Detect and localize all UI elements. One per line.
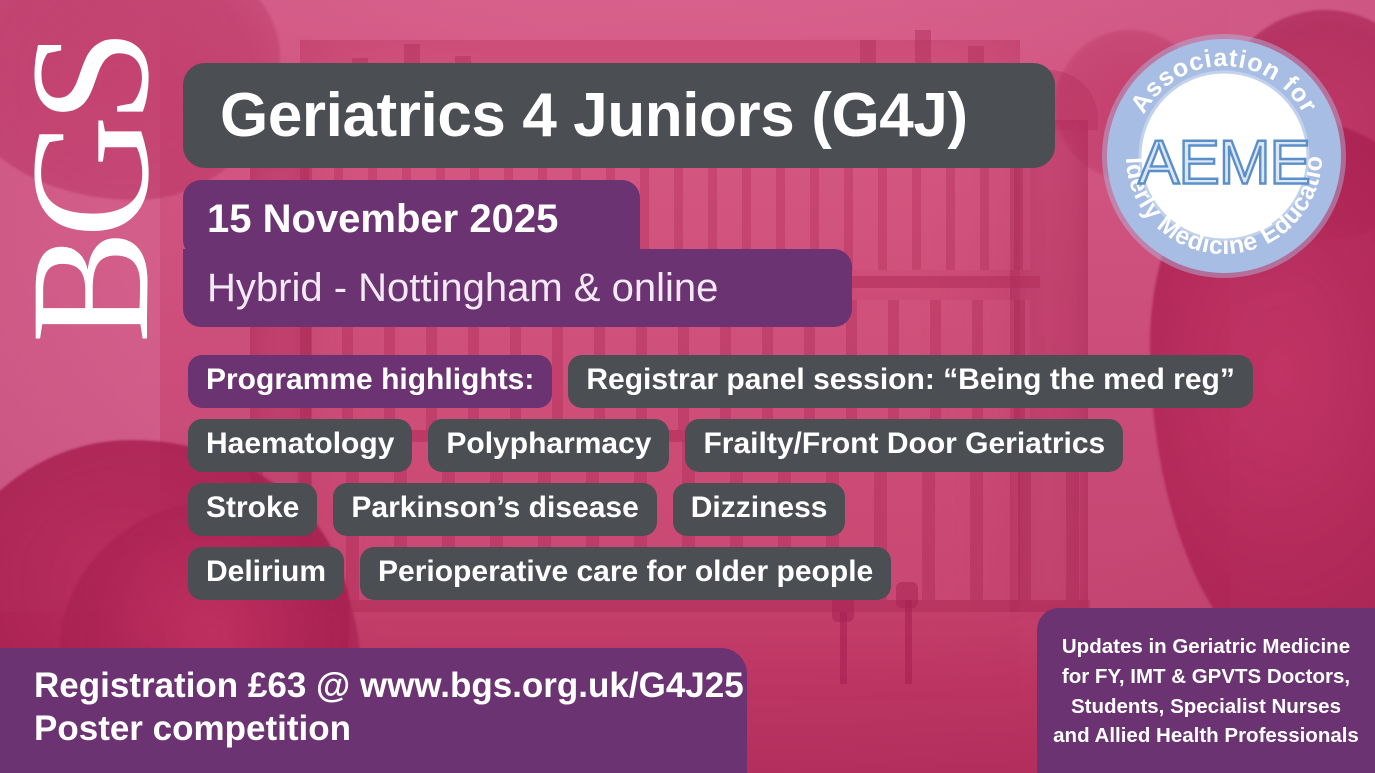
- topic-tag-delirium: Delirium: [188, 547, 344, 600]
- programme-highlights-label: Programme highlights:: [188, 355, 552, 408]
- topic-tag-perioperative-care: Perioperative care for older people: [360, 547, 891, 600]
- aeme-center-text: AEME: [1138, 129, 1310, 198]
- audience-line-2: for FY, IMT & GPVTS Doctors,: [1062, 662, 1350, 692]
- audience-line-1: Updates in Geriatric Medicine: [1062, 632, 1350, 662]
- event-format-badge: Hybrid - Nottingham & online: [183, 249, 852, 327]
- event-poster: BGS Association for Elderly Medicine Edu…: [0, 0, 1375, 773]
- topic-tag-stroke: Stroke: [188, 483, 317, 536]
- event-format-text: Hybrid - Nottingham & online: [207, 266, 718, 311]
- programme-row-2: Haematology Polypharmacy Frailty/Front D…: [188, 419, 1123, 472]
- registration-line-2: Poster competition: [34, 708, 747, 751]
- audience-line-3: Students, Specialist Nurses: [1071, 692, 1341, 722]
- topic-tag-registrar-panel: Registrar panel session: “Being the med …: [568, 355, 1253, 408]
- programme-row-4: Delirium Perioperative care for older pe…: [188, 547, 891, 600]
- programme-row-3: Stroke Parkinson’s disease Dizziness: [188, 483, 845, 536]
- event-date-text: 15 November 2025: [207, 197, 558, 242]
- registration-banner: Registration £63 @ www.bgs.org.uk/G4J25 …: [0, 648, 747, 773]
- topic-tag-frailty-front-door: Frailty/Front Door Geriatrics: [685, 419, 1123, 472]
- programme-row-1: Programme highlights: Registrar panel se…: [188, 355, 1253, 408]
- audience-line-4: and Allied Health Professionals: [1053, 721, 1359, 751]
- page-title-text: Geriatrics 4 Juniors (G4J): [220, 85, 968, 147]
- audience-panel: Updates in Geriatric Medicine for FY, IM…: [1037, 608, 1375, 773]
- page-title: Geriatrics 4 Juniors (G4J): [183, 63, 1055, 168]
- bgs-logo: BGS: [10, 35, 170, 345]
- aeme-logo: Association for Elderly Medicine Educati…: [1098, 30, 1350, 282]
- topic-tag-parkinsons: Parkinson’s disease: [333, 483, 656, 536]
- topic-tag-polypharmacy: Polypharmacy: [428, 419, 669, 472]
- registration-line-1: Registration £63 @ www.bgs.org.uk/G4J25: [34, 665, 747, 708]
- topic-tag-dizziness: Dizziness: [673, 483, 846, 536]
- event-date-badge: 15 November 2025: [183, 180, 640, 258]
- bgs-logo-text: BGS: [10, 37, 170, 344]
- topic-tag-haematology: Haematology: [188, 419, 412, 472]
